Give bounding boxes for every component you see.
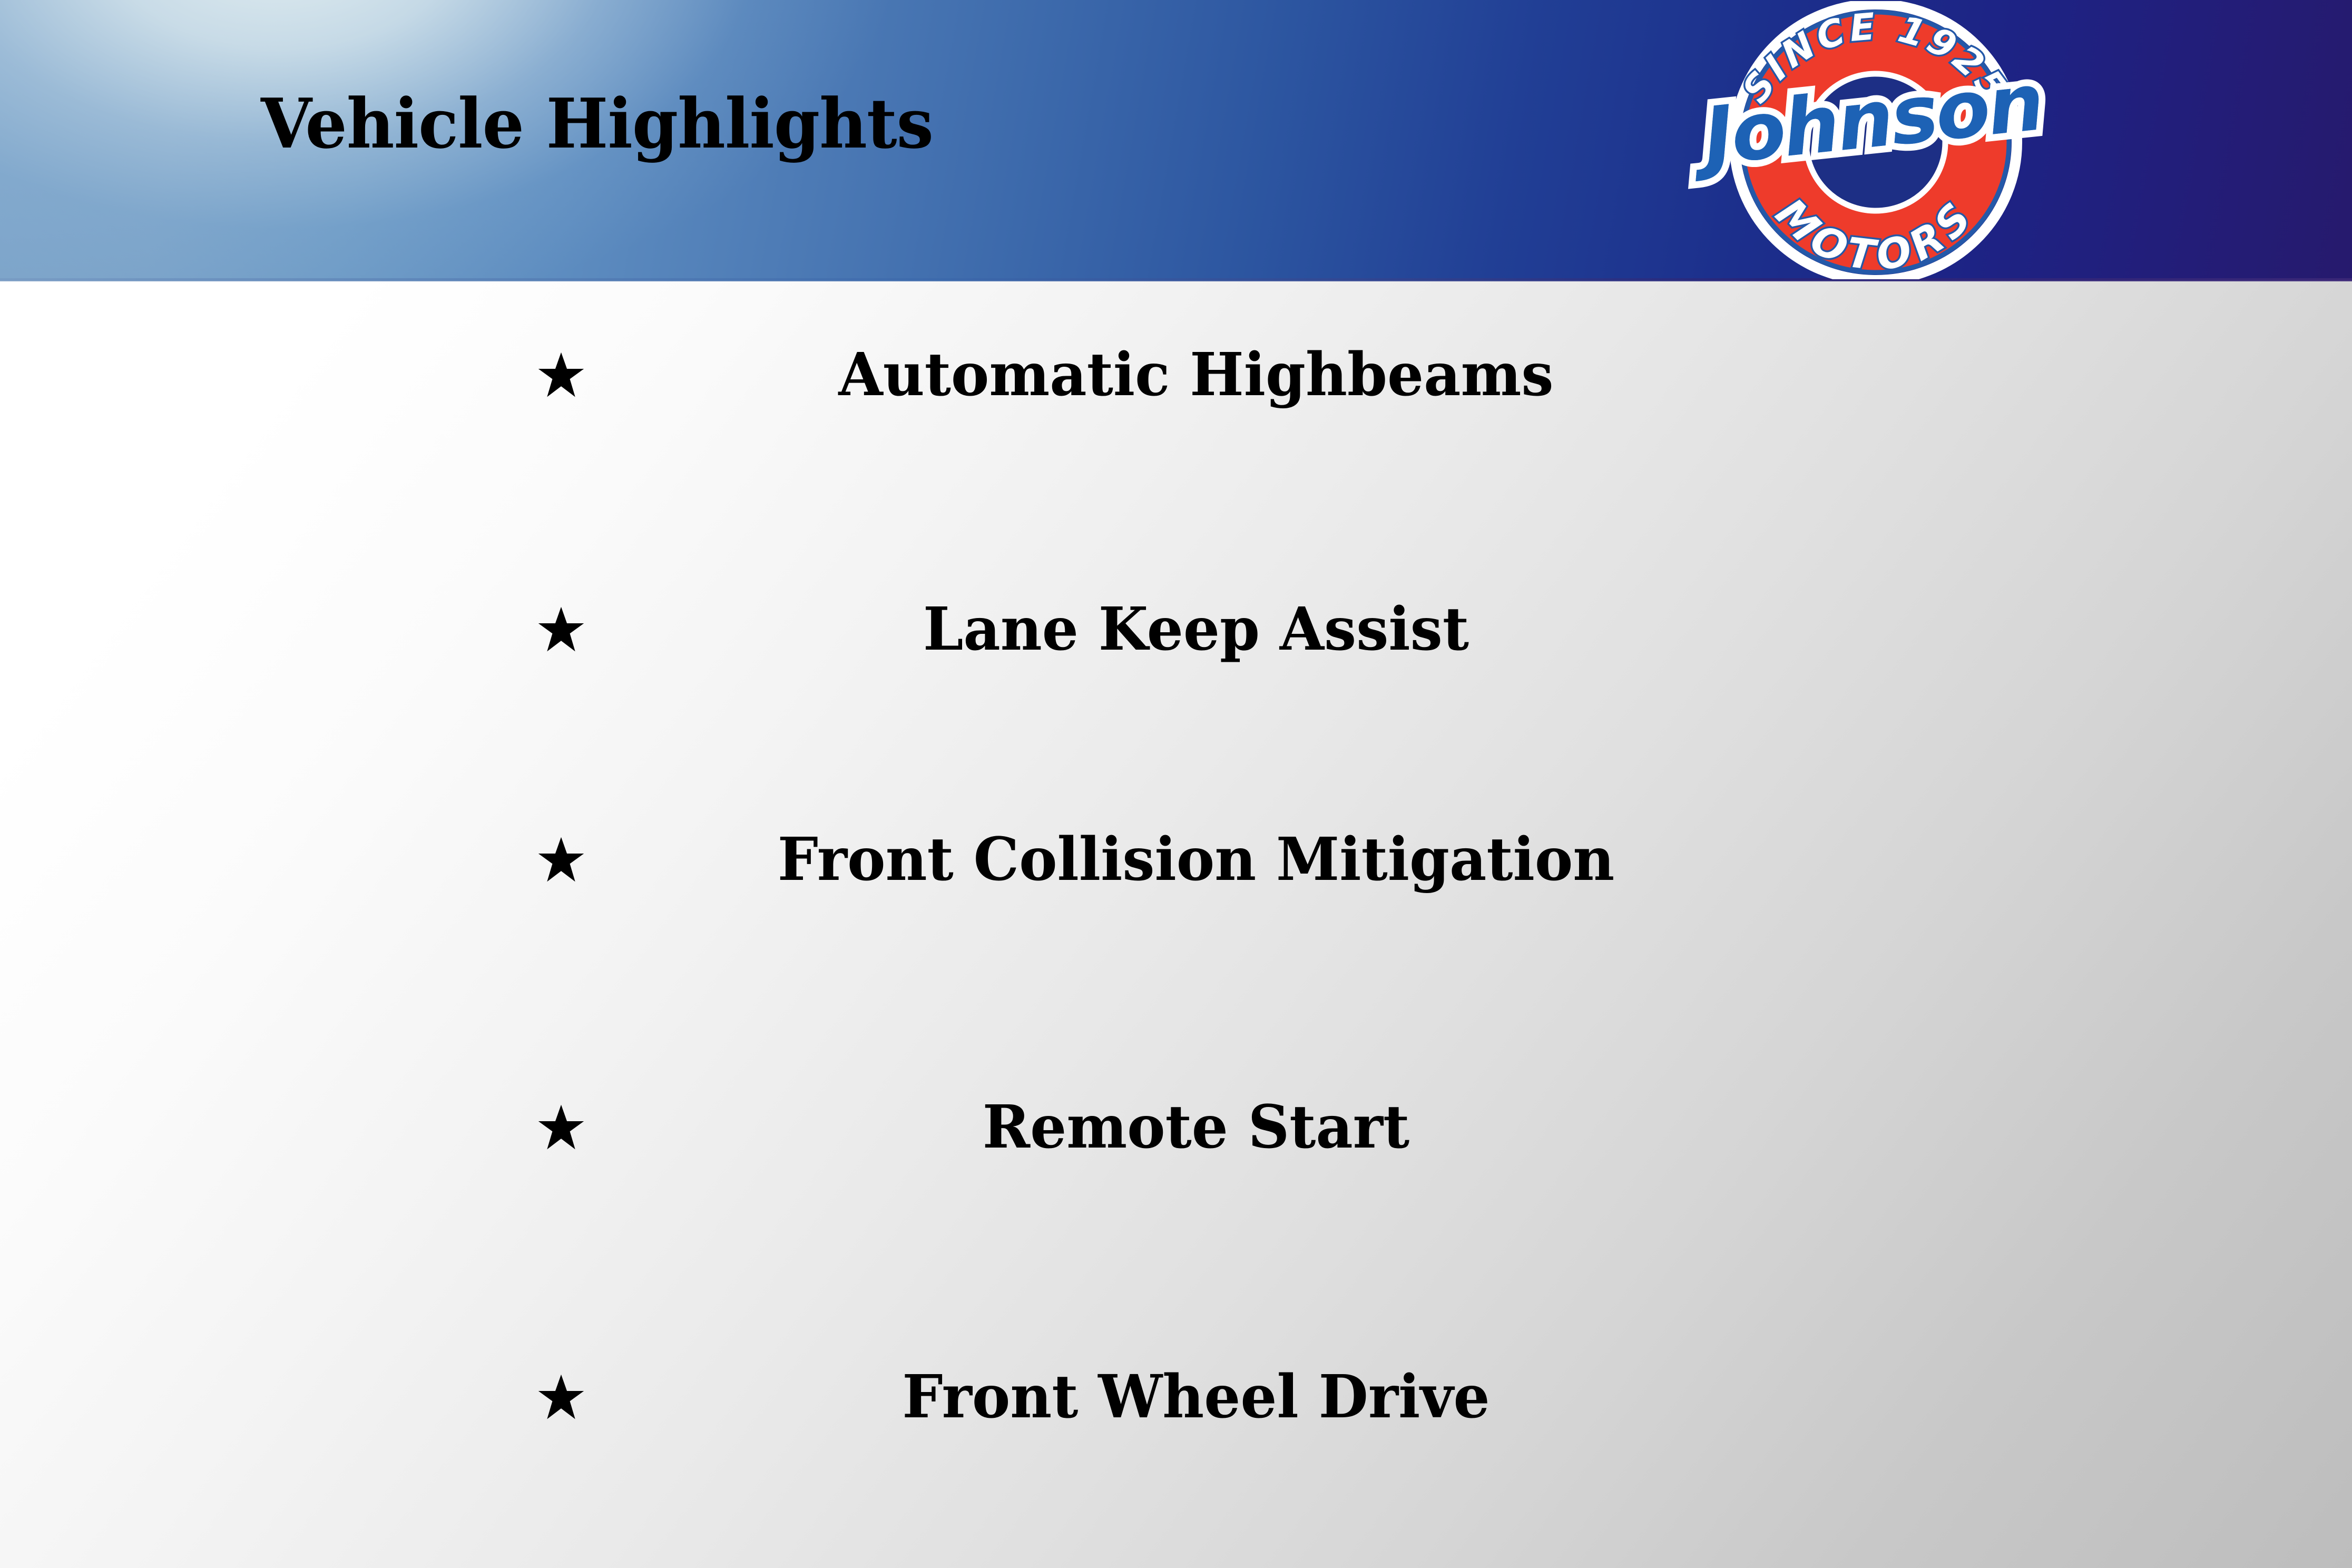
list-item: Front Wheel Drive bbox=[0, 1355, 2352, 1439]
list-item-label: Front Wheel Drive bbox=[639, 1355, 1753, 1439]
list-item-label: Front Collision Mitigation bbox=[639, 818, 1753, 902]
star-bullet-icon bbox=[535, 333, 587, 417]
johnson-motors-logo: SINCE 1925 MOTORS Johnson Johnson bbox=[1675, 1, 2076, 279]
list-item-label: Remote Start bbox=[639, 1085, 1753, 1170]
page-title: Vehicle Highlights bbox=[261, 84, 933, 163]
star-bullet-icon bbox=[535, 587, 587, 672]
list-item: Automatic Highbeams bbox=[0, 333, 2352, 417]
star-bullet-icon bbox=[535, 1085, 587, 1170]
highlights-list: Automatic Highbeams Lane Keep Assist Fro… bbox=[0, 280, 2352, 1568]
slide-vehicle-highlights: Vehicle Highlights SINCE 1925 MOTORS bbox=[0, 0, 2352, 1568]
list-item-label: Automatic Highbeams bbox=[639, 333, 1753, 417]
list-item: Front Collision Mitigation bbox=[0, 818, 2352, 902]
list-item: Remote Start bbox=[0, 1085, 2352, 1170]
star-bullet-icon bbox=[535, 818, 587, 902]
list-item: Lane Keep Assist bbox=[0, 587, 2352, 672]
star-bullet-icon bbox=[535, 1355, 587, 1439]
list-item-label: Lane Keep Assist bbox=[639, 587, 1753, 672]
